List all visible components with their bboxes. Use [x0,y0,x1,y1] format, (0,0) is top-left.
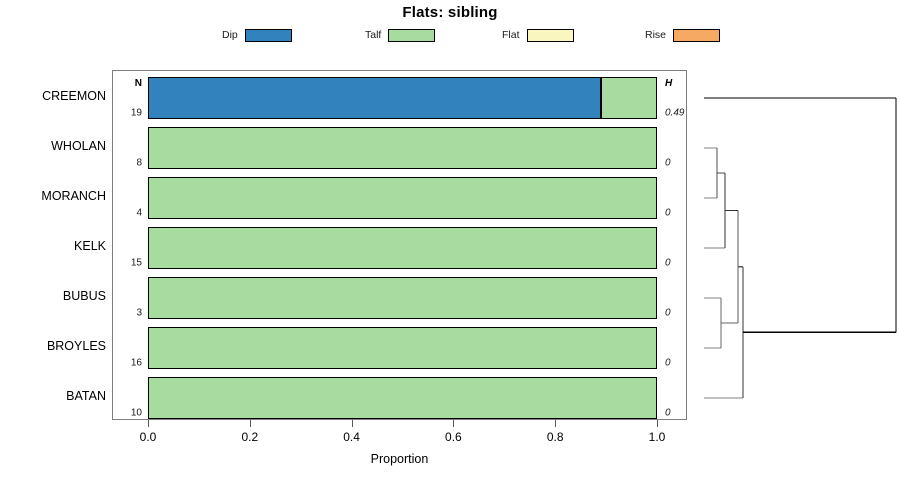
bar-segment-talf [148,277,657,319]
x-axis: Proportion 0.00.20.40.60.81.0 [112,420,687,480]
x-tick-label: 0.0 [128,430,168,444]
bar-segment-talf [601,77,657,119]
bar-row [148,77,657,119]
n-column-header: N [116,78,142,89]
bar-row [148,377,657,419]
chart-canvas: Flats: sibling DipTalfFlatRise NHCREEMON… [0,0,900,500]
x-tick-mark [453,420,454,427]
n-value: 4 [116,208,142,219]
bar-row [148,127,657,169]
x-tick-mark [352,420,353,427]
dendrogram-svg [687,70,900,420]
bar-row [148,277,657,319]
bar-segment-talf [148,127,657,169]
bar-row [148,227,657,269]
y-axis-label-batan: BATAN [0,389,106,403]
dendrogram [687,70,900,420]
bar-segment-talf [148,377,657,419]
y-axis-label-wholan: WHOLAN [0,139,106,153]
y-axis-label-bubus: BUBUS [0,289,106,303]
bar-segment-talf [148,227,657,269]
y-axis-label-moranch: MORANCH [0,189,106,203]
x-tick-mark [657,420,658,427]
n-value: 3 [116,308,142,319]
x-tick-mark [148,420,149,427]
x-tick-label: 0.2 [230,430,270,444]
y-axis-label-creemon: CREEMON [0,89,106,103]
x-tick-label: 0.4 [332,430,372,444]
x-tick-mark [250,420,251,427]
n-value: 15 [116,258,142,269]
x-tick-mark [555,420,556,427]
bar-row [148,177,657,219]
y-axis-label-kelk: KELK [0,239,106,253]
y-axis-label-broyles: BROYLES [0,339,106,353]
bar-row [148,327,657,369]
bar-segment-talf [148,327,657,369]
n-value: 8 [116,158,142,169]
bar-segment-talf [148,177,657,219]
n-value: 19 [116,108,142,119]
bar-segment-dip [148,77,601,119]
x-tick-label: 0.6 [433,430,473,444]
x-axis-title: Proportion [112,452,687,466]
n-value: 16 [116,358,142,369]
x-tick-label: 1.0 [637,430,677,444]
n-value: 10 [116,408,142,419]
x-tick-label: 0.8 [535,430,575,444]
